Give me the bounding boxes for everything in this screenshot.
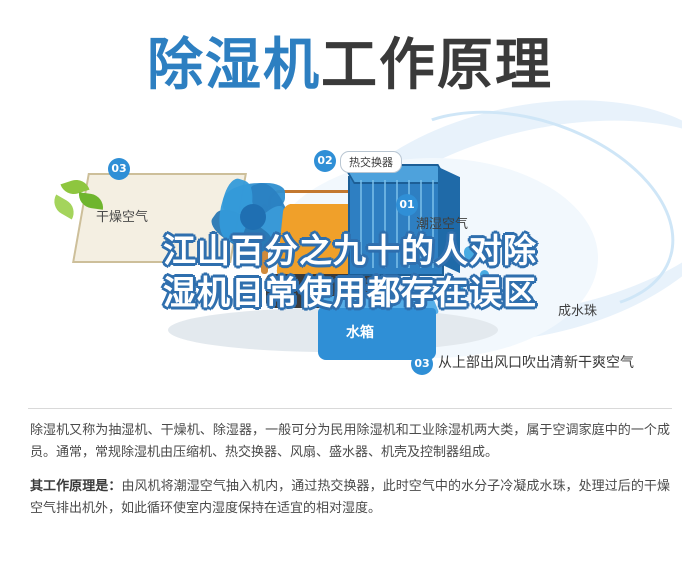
fan-hub-icon — [240, 204, 266, 230]
water-tank-label: 水箱 — [346, 322, 374, 342]
hero-title: 除湿机工作原理 — [18, 18, 682, 114]
hero-title-secondary: 工作原理 — [321, 18, 553, 114]
article-paragraph-2-lead: 其工作原理是： — [30, 479, 121, 494]
hero-inner: 除湿机工作原理 干燥空气 03 — [18, 8, 682, 396]
article-paragraph-1: 除湿机又称为抽湿机、干燥机、除湿器，一般可分为民用除湿机和工业除湿机两大类，属于… — [30, 420, 670, 464]
heat-exchanger-fin — [396, 180, 398, 268]
article-body: 除湿机又称为抽湿机、干燥机、除湿器，一般可分为民用除湿机和工业除湿机两大类，属于… — [30, 420, 670, 532]
badge-dry-air: 03 — [108, 158, 130, 180]
hero-illustration: 除湿机工作原理 干燥空气 03 — [0, 0, 700, 404]
badge-heat-exchanger: 02 — [314, 150, 336, 172]
page-root: 除湿机工作原理 干燥空气 03 — [0, 0, 700, 566]
heat-exchanger-fin — [372, 180, 374, 268]
hero-title-primary: 除湿机 — [147, 18, 321, 114]
compressor-body — [276, 204, 358, 278]
badge-wet-air: 01 — [396, 194, 418, 216]
dry-air-label: 干燥空气 — [96, 206, 148, 225]
wet-air-label: 潮湿空气 — [416, 213, 468, 232]
heat-exchanger-fin — [384, 180, 386, 268]
badge-outlet: 03 — [411, 353, 433, 375]
leaf-icon — [49, 194, 79, 219]
article-paragraph-2: 其工作原理是：由风机将潮湿空气抽入机内，通过热交换器，此时空气中的水分子冷凝成水… — [30, 476, 670, 520]
heat-exchanger-tag: 热交换器 — [340, 151, 402, 173]
water-drops-label: 成水珠 — [558, 300, 597, 319]
heat-exchanger-fin — [360, 180, 362, 268]
article-paragraph-2-text: 由风机将潮湿空气抽入机内，通过热交换器，此时空气中的水分子冷凝成水珠，处理过后的… — [30, 479, 670, 516]
outlet-label: 从上部出风口吹出清新干爽空气 — [438, 352, 634, 372]
content-divider — [28, 408, 672, 409]
water-tank-body — [318, 308, 436, 360]
